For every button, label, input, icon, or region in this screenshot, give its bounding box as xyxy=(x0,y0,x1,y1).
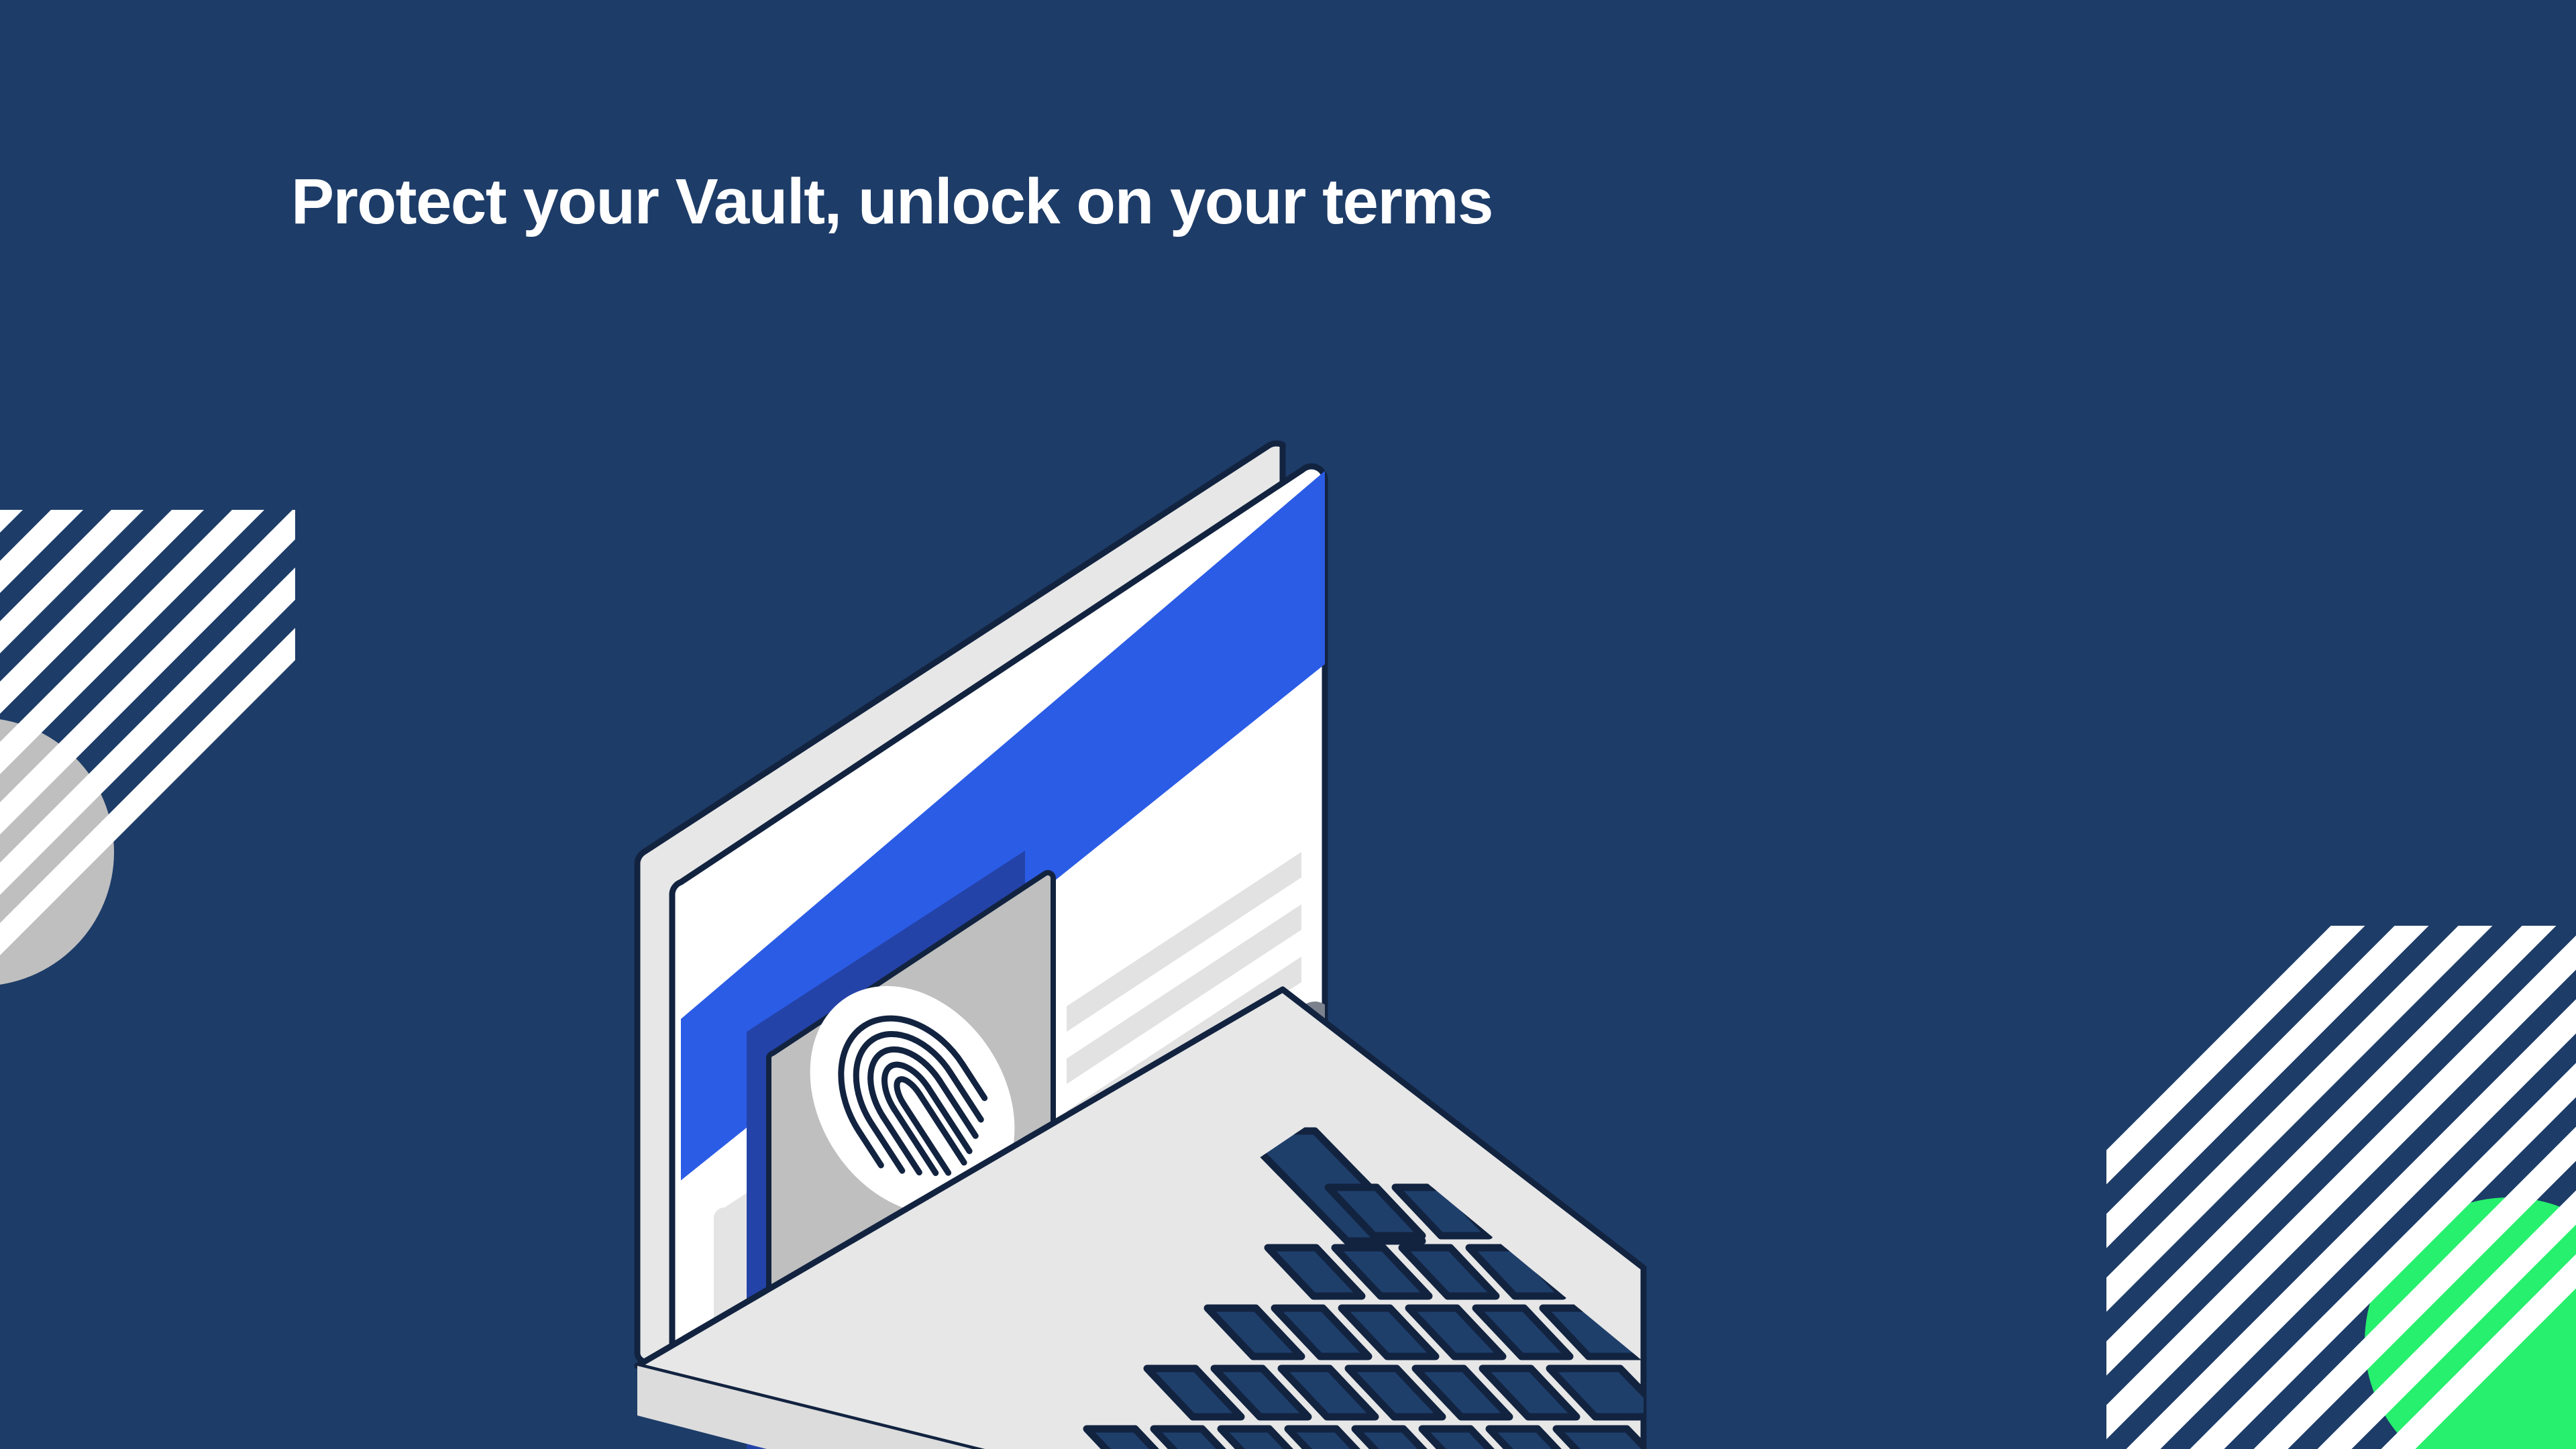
deco-circle-green-right xyxy=(2365,1197,2576,1449)
page-title: Protect your Vault, unlock on your terms xyxy=(291,167,2035,237)
stripe-group-right xyxy=(1905,657,2576,1449)
deco-circle-gray-left xyxy=(0,718,114,986)
hero-banner: Protect your Vault, unlock on your terms xyxy=(0,0,2576,1449)
diagonal-stripes-left xyxy=(0,510,295,1114)
isometric-laptop-illustration: * * * * xyxy=(624,315,1644,1449)
diagonal-stripes-right xyxy=(2106,926,2576,1449)
keyboard-key xyxy=(1556,1429,1674,1449)
deco-circle-green-left xyxy=(0,728,30,936)
